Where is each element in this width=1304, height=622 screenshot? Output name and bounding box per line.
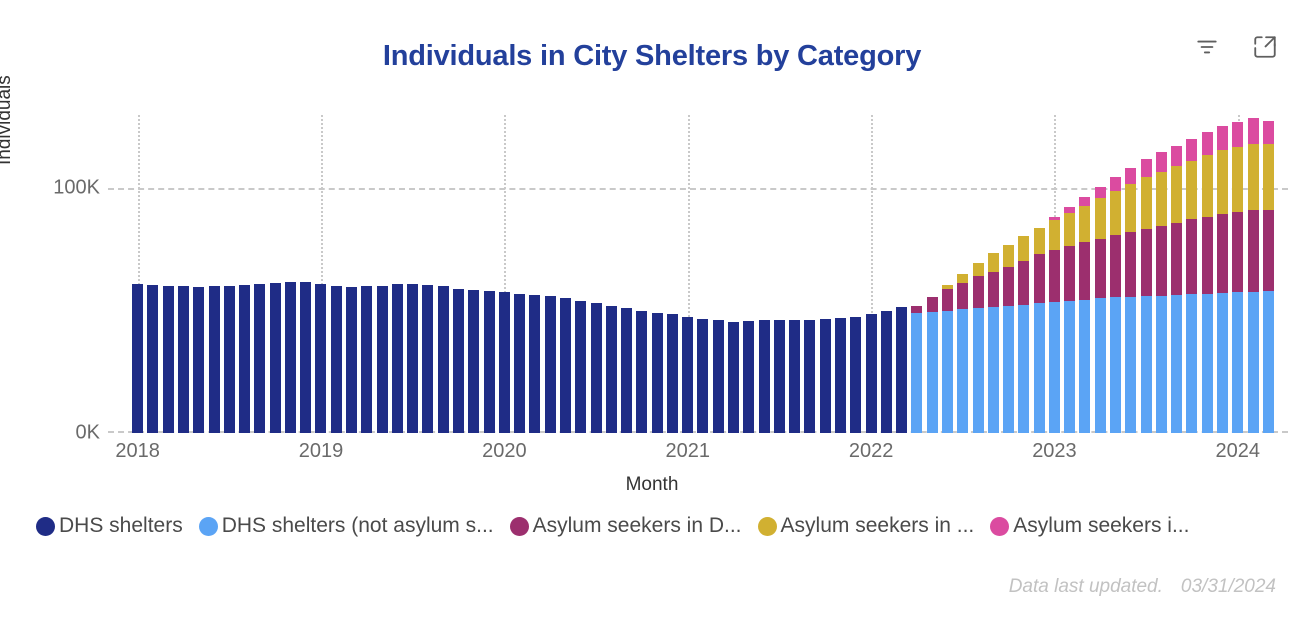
bar-column[interactable] [927, 297, 938, 433]
bar-column[interactable] [1202, 132, 1213, 433]
footer-last-updated: Data last updated. 03/31/2024 [1009, 576, 1276, 598]
x-axis-tick: 2021 [665, 440, 710, 463]
bar-segment[interactable] [468, 290, 479, 433]
plot-area: 20182019202020212022202320240K100K [130, 115, 1276, 433]
bar-segment[interactable] [804, 320, 815, 433]
bar-segment[interactable] [1232, 147, 1243, 212]
bar-segment[interactable] [132, 284, 143, 433]
bar-segment[interactable] [1141, 229, 1152, 296]
legend-item[interactable]: DHS shelters (not asylum s... [199, 514, 494, 538]
bar-segment[interactable] [942, 311, 953, 433]
bar-column[interactable] [346, 287, 357, 433]
bar-segment[interactable] [1049, 302, 1060, 433]
bar-segment[interactable] [1248, 144, 1259, 210]
legend-label: DHS shelters (not asylum s... [222, 514, 494, 538]
bar-segment[interactable] [1171, 223, 1182, 295]
bar-segment[interactable] [667, 314, 678, 433]
bar-segment[interactable] [1064, 213, 1075, 246]
bar-segment[interactable] [1110, 297, 1121, 433]
bar-segment[interactable] [147, 285, 158, 433]
bar-segment[interactable] [1125, 168, 1136, 184]
bar-segment[interactable] [422, 285, 433, 433]
page-title: Individuals in City Shelters by Category [0, 36, 1304, 76]
bar-segment[interactable] [1079, 242, 1090, 299]
bar-column[interactable] [682, 317, 693, 433]
legend-color-swatch [36, 517, 55, 536]
bar-column[interactable] [132, 284, 143, 433]
bar-segment[interactable] [560, 298, 571, 433]
bar-segment[interactable] [254, 284, 265, 433]
bar-segment[interactable] [1156, 296, 1167, 433]
legend-item[interactable]: Asylum seekers in ... [758, 514, 975, 538]
bar-segment[interactable] [1263, 210, 1274, 291]
bar-column[interactable] [361, 286, 372, 433]
bar-segment[interactable] [1141, 296, 1152, 433]
legend-item[interactable]: DHS shelters [36, 514, 183, 538]
expand-icon[interactable] [1250, 32, 1280, 62]
bar-segment[interactable] [1064, 301, 1075, 433]
bar-column[interactable] [667, 314, 678, 433]
bar-column[interactable] [759, 320, 770, 433]
bar-segment[interactable] [1217, 293, 1228, 433]
x-axis-label: Month [0, 474, 1304, 496]
bar-segment[interactable] [270, 283, 281, 433]
bar-column[interactable] [468, 290, 479, 433]
bar-column[interactable] [1064, 207, 1075, 433]
bar-segment[interactable] [759, 320, 770, 433]
x-axis-tick: 2018 [115, 440, 160, 463]
bar-column[interactable] [652, 313, 663, 433]
bar-segment[interactable] [1186, 294, 1197, 433]
bar-column[interactable] [866, 314, 877, 433]
bar-column[interactable] [1217, 126, 1228, 433]
bar-segment[interactable] [545, 296, 556, 433]
bar-segment[interactable] [239, 285, 250, 433]
bar-segment[interactable] [331, 286, 342, 433]
bar-column[interactable] [835, 318, 846, 433]
bar-column[interactable] [575, 301, 586, 433]
bar-segment[interactable] [1263, 291, 1274, 433]
bar-column[interactable] [1125, 168, 1136, 433]
bar-column[interactable] [973, 263, 984, 433]
bar-segment[interactable] [1171, 295, 1182, 433]
bar-segment[interactable] [392, 284, 403, 433]
legend-color-swatch [199, 517, 218, 536]
legend-label: Asylum seekers in D... [533, 514, 742, 538]
bar-column[interactable] [1186, 139, 1197, 433]
bar-column[interactable] [484, 291, 495, 433]
bar-column[interactable] [422, 285, 433, 433]
bar-segment[interactable] [1217, 126, 1228, 150]
bar-column[interactable] [1018, 236, 1029, 433]
bar-column[interactable] [636, 311, 647, 433]
bar-segment[interactable] [927, 297, 938, 312]
bar-segment[interactable] [835, 318, 846, 433]
bar-segment[interactable] [1110, 177, 1121, 190]
bar-segment[interactable] [1217, 214, 1228, 294]
bar-segment[interactable] [1156, 226, 1167, 296]
bar-segment[interactable] [361, 286, 372, 433]
bar-segment[interactable] [1125, 184, 1136, 232]
bar-segment[interactable] [224, 286, 235, 433]
bar-segment[interactable] [453, 289, 464, 433]
bar-column[interactable] [774, 320, 785, 433]
bar-segment[interactable] [1232, 212, 1243, 293]
bar-column[interactable] [300, 282, 311, 433]
bar-segment[interactable] [407, 284, 418, 433]
bar-segment[interactable] [1156, 152, 1167, 172]
bar-column[interactable] [1003, 245, 1014, 433]
bar-column[interactable] [804, 320, 815, 433]
bar-segment[interactable] [988, 272, 999, 307]
x-axis-tick: 2023 [1032, 440, 1077, 463]
bar-column[interactable] [545, 296, 556, 433]
legend-color-swatch [990, 517, 1009, 536]
bar-segment[interactable] [1049, 250, 1060, 303]
bar-column[interactable] [1248, 118, 1259, 433]
bar-segment[interactable] [1018, 305, 1029, 433]
bar-segment[interactable] [1034, 228, 1045, 255]
bar-segment[interactable] [621, 308, 632, 433]
bar-segment[interactable] [1141, 159, 1152, 177]
bar-column[interactable] [178, 286, 189, 434]
bar-segment[interactable] [1171, 166, 1182, 222]
last-updated-value: 03/31/2024 [1181, 576, 1276, 598]
bar-segment[interactable] [484, 291, 495, 433]
bar-segment[interactable] [1202, 294, 1213, 433]
bar-segment[interactable] [1248, 210, 1259, 292]
bar-column[interactable] [209, 286, 220, 433]
y-axis-tick: 100K [53, 177, 100, 200]
bar-segment[interactable] [1049, 220, 1060, 249]
bar-column[interactable] [239, 285, 250, 433]
legend-item[interactable]: Asylum seekers i... [990, 514, 1189, 538]
bar-column[interactable] [163, 286, 174, 433]
bar-column[interactable] [193, 287, 204, 433]
bar-segment[interactable] [988, 307, 999, 433]
bar-column[interactable] [1232, 122, 1243, 433]
bar-segment[interactable] [209, 286, 220, 433]
bar-segment[interactable] [1095, 187, 1106, 198]
y-axis-label: Individuals [0, 75, 16, 165]
bar-column[interactable] [270, 283, 281, 433]
bar-segment[interactable] [957, 274, 968, 283]
bar-segment[interactable] [866, 314, 877, 433]
bar-segment[interactable] [514, 294, 525, 433]
bar-column[interactable] [1263, 121, 1274, 433]
bar-segment[interactable] [896, 307, 907, 433]
bar-segment[interactable] [820, 319, 831, 433]
bar-column[interactable] [1156, 152, 1167, 433]
bar-segment[interactable] [1186, 161, 1197, 220]
bar-segment[interactable] [850, 317, 861, 433]
bar-column[interactable] [606, 306, 617, 433]
bar-segment[interactable] [1248, 292, 1259, 433]
bar-segment[interactable] [193, 287, 204, 433]
bar-segment[interactable] [713, 320, 724, 433]
bar-segment[interactable] [1110, 235, 1121, 297]
bar-segment[interactable] [438, 286, 449, 433]
chart-legend: DHS sheltersDHS shelters (not asylum s..… [36, 514, 1286, 538]
bar-column[interactable] [560, 298, 571, 433]
bar-segment[interactable] [1217, 150, 1228, 214]
bar-segment[interactable] [1232, 292, 1243, 433]
bar-segment[interactable] [1186, 219, 1197, 294]
legend-color-swatch [758, 517, 777, 536]
bar-segment[interactable] [1156, 172, 1167, 226]
legend-label: Asylum seekers i... [1013, 514, 1189, 538]
bar-segment[interactable] [957, 283, 968, 310]
bar-segment[interactable] [652, 313, 663, 433]
bar-segment[interactable] [911, 306, 922, 313]
bar-segment[interactable] [728, 322, 739, 433]
bar-segment[interactable] [591, 303, 602, 433]
bar-segment[interactable] [377, 286, 388, 434]
bar-column[interactable] [911, 306, 922, 433]
bar-segment[interactable] [499, 292, 510, 433]
bar-segment[interactable] [1263, 144, 1274, 210]
bar-column[interactable] [1079, 197, 1090, 433]
legend-label: DHS shelters [59, 514, 183, 538]
bar-segment[interactable] [774, 320, 785, 433]
bar-segment[interactable] [1202, 132, 1213, 155]
y-axis-tick: 0K [76, 422, 100, 445]
bar-column[interactable] [1034, 228, 1045, 433]
legend-item[interactable]: Asylum seekers in D... [510, 514, 742, 538]
bar-column[interactable] [224, 286, 235, 433]
bar-segment[interactable] [957, 309, 968, 433]
bar-segment[interactable] [346, 287, 357, 433]
bar-segment[interactable] [1110, 191, 1121, 235]
bar-column[interactable] [529, 295, 540, 433]
bar-segment[interactable] [1034, 254, 1045, 303]
bar-segment[interactable] [1079, 197, 1090, 206]
bar-segment[interactable] [682, 317, 693, 433]
bar-segment[interactable] [881, 311, 892, 433]
bar-column[interactable] [285, 282, 296, 433]
bar-segment[interactable] [1202, 155, 1213, 216]
bar-column[interactable] [713, 320, 724, 433]
bar-column[interactable] [743, 321, 754, 433]
bar-column[interactable] [942, 285, 953, 433]
bar-segment[interactable] [743, 321, 754, 433]
bar-segment[interactable] [1232, 122, 1243, 147]
x-axis-tick: 2024 [1216, 440, 1261, 463]
bar-column[interactable] [331, 286, 342, 433]
bar-column[interactable] [621, 308, 632, 433]
bar-segment[interactable] [636, 311, 647, 433]
bar-column[interactable] [1049, 217, 1060, 433]
bar-column[interactable] [881, 311, 892, 433]
bar-column[interactable] [499, 292, 510, 433]
bar-segment[interactable] [973, 276, 984, 308]
bar-column[interactable] [957, 274, 968, 433]
bar-column[interactable] [1110, 177, 1121, 433]
bar-segment[interactable] [1186, 139, 1197, 161]
chart-visualization: Individuals in City Shelters by Category… [0, 0, 1304, 622]
header-actions [1192, 32, 1280, 62]
bar-segment[interactable] [1018, 261, 1029, 305]
bar-segment[interactable] [315, 284, 326, 433]
bar-segment[interactable] [927, 312, 938, 433]
bar-segment[interactable] [697, 319, 708, 433]
bar-segment[interactable] [789, 320, 800, 433]
bar-segment[interactable] [1034, 303, 1045, 433]
bar-segment[interactable] [1079, 300, 1090, 433]
last-updated-label: Data last updated. [1009, 576, 1163, 598]
bar-segment[interactable] [911, 313, 922, 433]
bar-column[interactable] [988, 253, 999, 433]
bar-column[interactable] [438, 286, 449, 433]
bar-column[interactable] [1171, 146, 1182, 433]
bar-segment[interactable] [163, 286, 174, 433]
bar-segment[interactable] [300, 282, 311, 433]
legend-color-swatch [510, 517, 529, 536]
bar-column[interactable] [315, 284, 326, 433]
bar-segment[interactable] [1263, 121, 1274, 144]
bar-column[interactable] [392, 284, 403, 433]
bar-segment[interactable] [973, 308, 984, 433]
bar-segment[interactable] [1125, 232, 1136, 297]
bar-column[interactable] [896, 307, 907, 433]
legend-label: Asylum seekers in ... [781, 514, 975, 538]
bar-column[interactable] [850, 317, 861, 433]
bar-segment[interactable] [1064, 246, 1075, 301]
bar-segment[interactable] [1125, 297, 1136, 433]
bar-segment[interactable] [1003, 267, 1014, 306]
bar-column[interactable] [377, 286, 388, 434]
bar-column[interactable] [728, 322, 739, 433]
bar-segment[interactable] [942, 289, 953, 311]
bar-segment[interactable] [575, 301, 586, 433]
bar-column[interactable] [453, 289, 464, 433]
bar-segment[interactable] [1003, 306, 1014, 433]
bar-column[interactable] [820, 319, 831, 433]
filter-icon[interactable] [1192, 32, 1222, 62]
bar-segment[interactable] [1003, 245, 1014, 267]
bar-column[interactable] [147, 285, 158, 433]
bar-column[interactable] [697, 319, 708, 433]
bar-segment[interactable] [178, 286, 189, 434]
bar-segment[interactable] [1018, 236, 1029, 260]
bar-column[interactable] [1095, 187, 1106, 433]
bar-segment[interactable] [1248, 118, 1259, 144]
bar-segment[interactable] [529, 295, 540, 433]
bar-column[interactable] [591, 303, 602, 433]
bar-segment[interactable] [1095, 298, 1106, 433]
bar-segment[interactable] [973, 263, 984, 276]
bar-column[interactable] [1141, 159, 1152, 433]
bar-column[interactable] [789, 320, 800, 433]
bar-segment[interactable] [285, 282, 296, 433]
bar-segment[interactable] [988, 253, 999, 271]
x-axis-tick: 2019 [299, 440, 344, 463]
bar-segment[interactable] [1171, 146, 1182, 167]
bar-segment[interactable] [1202, 217, 1213, 294]
bar-column[interactable] [254, 284, 265, 433]
x-axis-tick: 2020 [482, 440, 527, 463]
x-axis-tick: 2022 [849, 440, 894, 463]
bar-column[interactable] [514, 294, 525, 433]
bar-segment[interactable] [1095, 198, 1106, 238]
bar-segment[interactable] [606, 306, 617, 433]
bar-segment[interactable] [1079, 206, 1090, 243]
bar-column[interactable] [407, 284, 418, 433]
bar-segment[interactable] [1095, 239, 1106, 299]
bar-segment[interactable] [1141, 177, 1152, 228]
